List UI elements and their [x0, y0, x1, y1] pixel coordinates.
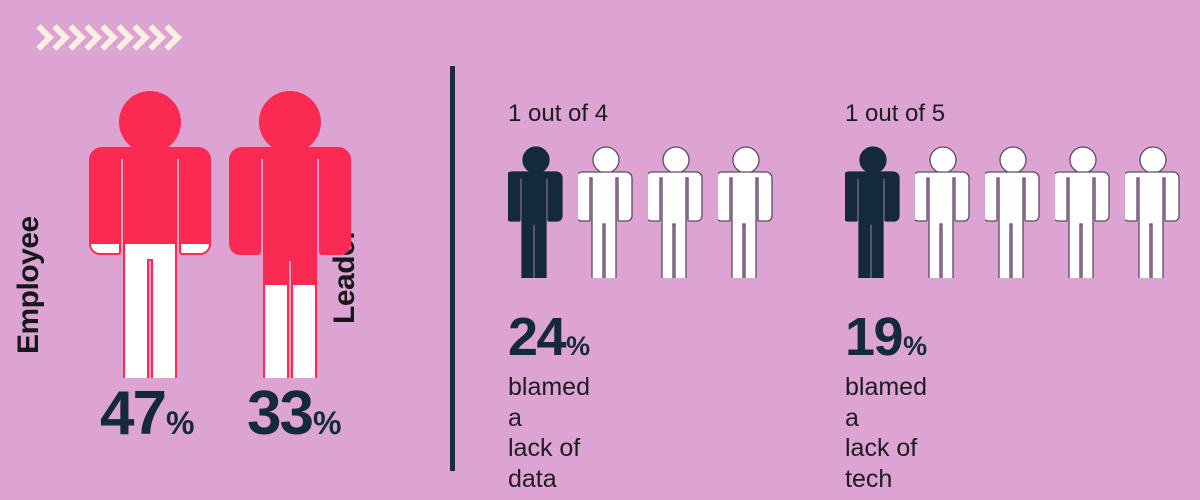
data-description: blamed a lack of data [508, 372, 590, 494]
panel-divider [450, 66, 455, 471]
person-icon [718, 146, 774, 278]
data-stat-block: 24 % blamed a lack of data [508, 310, 590, 494]
person-icon [648, 146, 704, 278]
leader-percent-sign: % [313, 407, 341, 439]
data-people-row [508, 146, 774, 278]
person-icon-highlighted [508, 146, 564, 278]
tech-percent: 19 % [845, 310, 927, 364]
tech-people-row [845, 146, 1181, 278]
person-icon [578, 146, 634, 278]
data-percent-value: 24 [508, 310, 565, 364]
leader-percent-value: 33 [247, 383, 312, 445]
person-icon [985, 146, 1041, 278]
person-icon [1055, 146, 1111, 278]
employee-percent: 47 % [100, 383, 194, 445]
tech-percent-value: 19 [845, 310, 902, 364]
tech-ratio-label: 1 out of 5 [845, 100, 945, 128]
data-ratio-label: 1 out of 4 [508, 100, 608, 128]
leader-pictogram [225, 88, 355, 378]
employee-pictogram [85, 88, 215, 378]
data-percent: 24 % [508, 310, 590, 364]
person-icon [915, 146, 971, 278]
tech-stat-block: 19 % blamed a lack of tech [845, 310, 927, 494]
employee-axis-label: Employee [12, 216, 46, 354]
tech-percent-sign: % [903, 333, 927, 360]
person-icon-highlighted [845, 146, 901, 278]
leader-percent: 33 % [247, 383, 341, 445]
employee-percent-sign: % [166, 407, 194, 439]
infographic-root: Employee Leader [0, 0, 1200, 500]
employee-percent-value: 47 [100, 383, 165, 445]
person-icon [1125, 146, 1181, 278]
tech-description: blamed a lack of tech [845, 372, 927, 494]
data-percent-sign: % [566, 333, 590, 360]
comparison-panel: Employee Leader [0, 0, 450, 500]
